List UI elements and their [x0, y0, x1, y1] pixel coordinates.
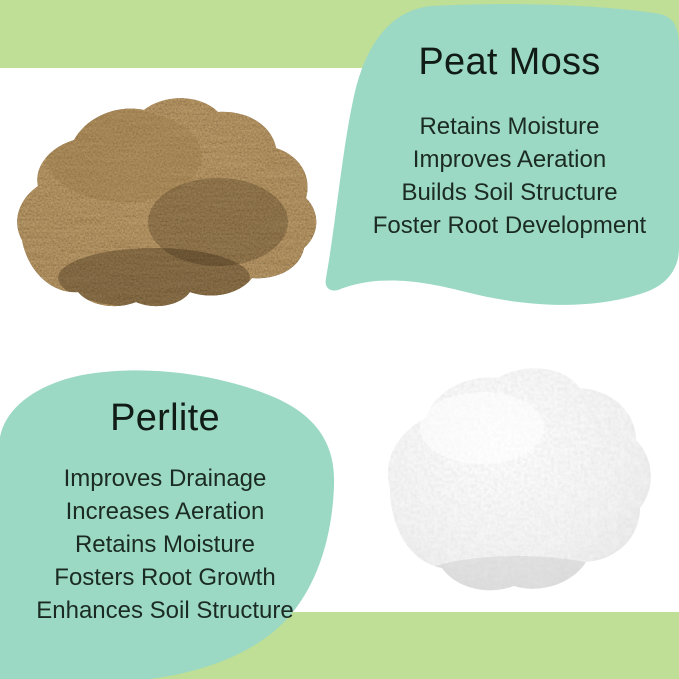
peat-moss-benefit-item: Retains Moisture	[340, 110, 679, 143]
perlite-image	[368, 348, 668, 616]
infographic-canvas: Peat Moss Retains Moisture Improves Aera…	[0, 0, 679, 679]
perlite-benefit-item: Enhances Soil Structure	[0, 594, 330, 627]
perlite-benefit-item: Fosters Root Growth	[0, 561, 330, 594]
perlite-benefit-list: Improves Drainage Increases Aeration Ret…	[0, 462, 330, 628]
peat-moss-benefit-item: Builds Soil Structure	[340, 176, 679, 209]
peat-moss-title: Peat Moss	[340, 42, 679, 84]
peat-moss-panel: Peat Moss Retains Moisture Improves Aera…	[340, 42, 679, 242]
peat-moss-image	[4, 72, 334, 312]
peat-moss-benefit-list: Retains Moisture Improves Aeration Build…	[340, 110, 679, 242]
perlite-benefit-item: Increases Aeration	[0, 495, 330, 528]
perlite-benefit-item: Retains Moisture	[0, 528, 330, 561]
peat-moss-benefit-item: Improves Aeration	[340, 143, 679, 176]
peat-moss-benefit-item: Foster Root Development	[340, 209, 679, 242]
perlite-benefit-item: Improves Drainage	[0, 462, 330, 495]
perlite-title: Perlite	[0, 398, 330, 440]
perlite-panel: Perlite Improves Drainage Increases Aera…	[0, 398, 330, 627]
